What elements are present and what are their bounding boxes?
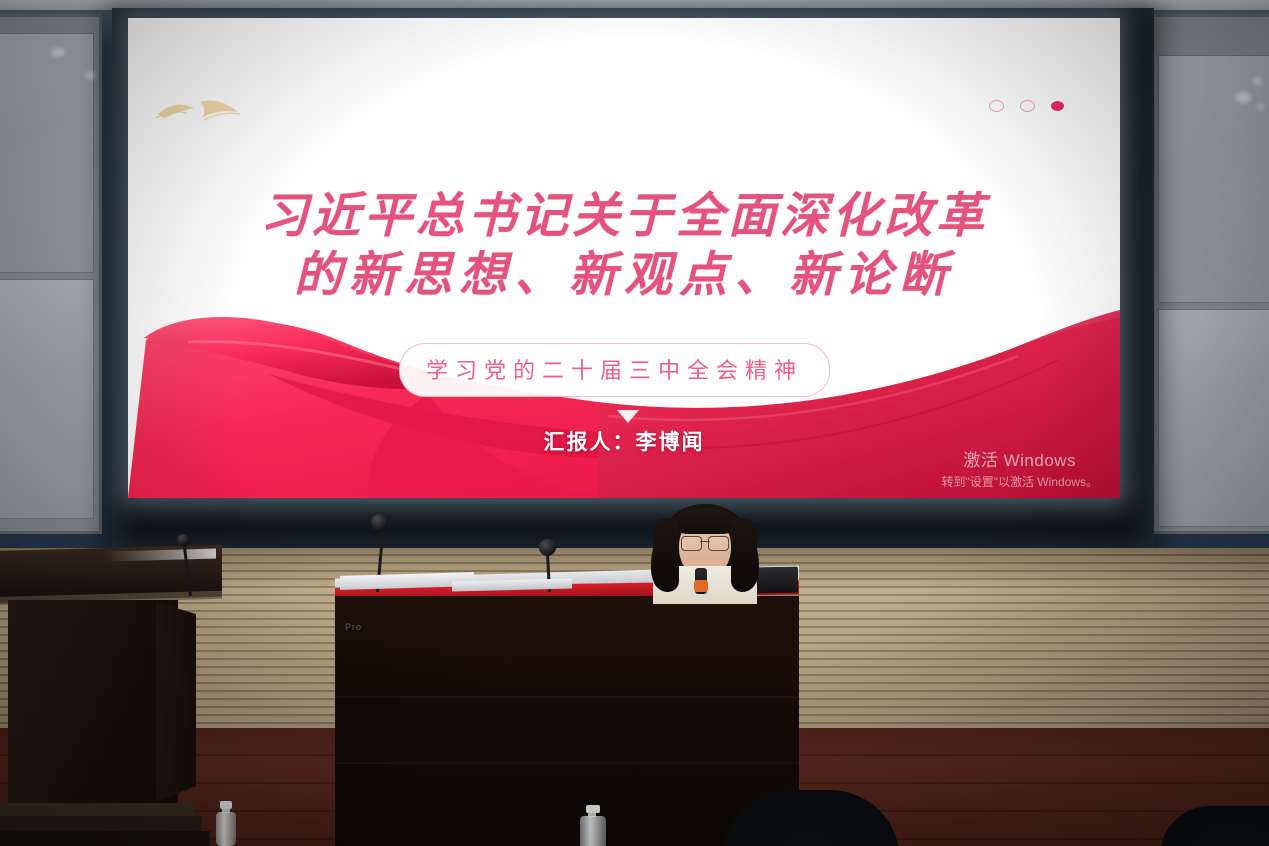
- whiteboard-pane: [1158, 309, 1269, 527]
- whiteboard-pane: [0, 33, 94, 273]
- slide-dot-hollow: [1020, 100, 1035, 112]
- slide-title-line-1: 习近平总书记关于全面深化改革: [128, 188, 1120, 247]
- slide-dot-active: [1051, 101, 1064, 111]
- presentation-slide: 习近平总书记关于全面深化改革 的新思想、新观点、新论断: [128, 18, 1120, 498]
- whiteboard-left: [0, 14, 102, 534]
- gold-birds-icon: [154, 88, 264, 134]
- seated-presenter: [645, 500, 765, 600]
- slide-title-line-2: 的新思想、新观点、新论断: [128, 247, 1120, 306]
- handheld-microphone: [695, 568, 707, 594]
- slide-subtitle-pill: 学习党的二十届三中全会精神: [399, 343, 830, 397]
- table-logo: Pro: [345, 622, 362, 632]
- slide-title: 习近平总书记关于全面深化改革 的新思想、新观点、新论断: [128, 188, 1120, 305]
- conference-table: Pro: [335, 584, 799, 846]
- slide-dot-hollow: [989, 100, 1004, 112]
- red-silk-ribbon: [128, 298, 1120, 498]
- water-bottle: [580, 806, 606, 846]
- whiteboard-pane: [0, 279, 94, 519]
- water-bottle: [216, 802, 236, 846]
- whiteboard-pane: [1158, 55, 1269, 303]
- glasses-icon: [681, 536, 729, 549]
- triangle-caret-icon: [617, 410, 639, 423]
- slide-dot-group: [989, 100, 1064, 112]
- room-scene: 习近平总书记关于全面深化改革 的新思想、新观点、新论断: [0, 0, 1269, 846]
- whiteboard-right: [1150, 14, 1269, 534]
- slide-presenter-line: 汇报人：李博闻: [128, 426, 1120, 456]
- gooseneck-microphone: [182, 540, 196, 596]
